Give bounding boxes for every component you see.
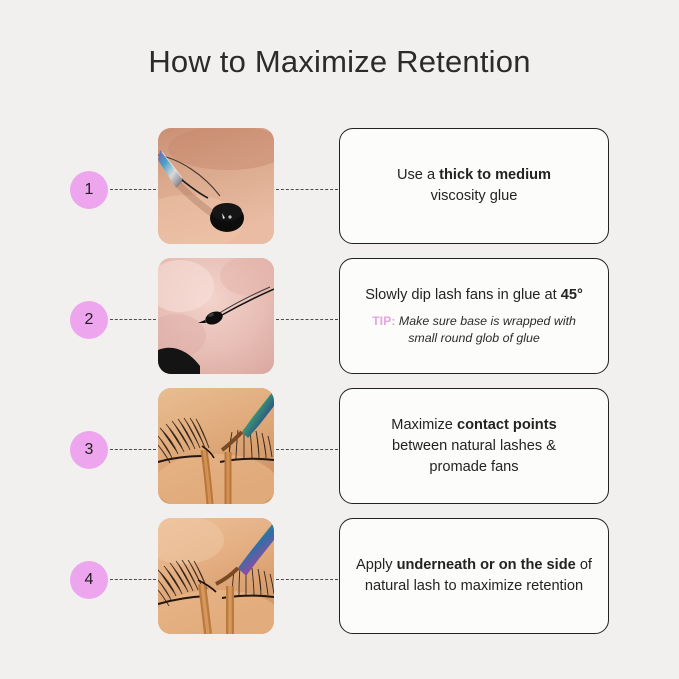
step-text-1-line2: viscosity glue xyxy=(431,188,518,204)
step-image-2 xyxy=(158,258,274,374)
connector-dash-image-to-card-2 xyxy=(276,319,338,320)
tip-label-2: TIP: xyxy=(372,314,395,328)
step-number-badge-1: 1 xyxy=(70,171,108,209)
step-number-badge-2: 2 xyxy=(70,301,108,339)
connector-dash-badge-to-image-3 xyxy=(110,449,156,450)
connector-dash-image-to-card-4 xyxy=(276,579,338,580)
step-text-3-bold: contact points xyxy=(457,417,557,433)
step-text-2-before: Slowly dip lash fans in glue at xyxy=(365,287,561,303)
step-number-badge-4: 4 xyxy=(70,561,108,599)
page-title: How to Maximize Retention xyxy=(0,44,679,80)
step-card-1: Use a thick to medium viscosity glue xyxy=(339,128,609,244)
step-text-3-line2: between natural lashes & xyxy=(392,438,556,454)
connector-dash-image-to-card-3 xyxy=(276,449,338,450)
step-row-1: 1 xyxy=(0,128,679,244)
step-text-1-before: Use a xyxy=(397,167,439,183)
step-tip-2: TIP: Make sure base is wrapped with smal… xyxy=(356,313,592,347)
step-row-2: 2 xyxy=(0,258,679,374)
step-text-3-line3: promade fans xyxy=(429,459,518,475)
step-card-4: Apply underneath or on the side of natur… xyxy=(339,518,609,634)
connector-dash-badge-to-image-1 xyxy=(110,189,156,190)
connector-dash-badge-to-image-2 xyxy=(110,319,156,320)
step-image-3 xyxy=(158,388,274,504)
step-text-3: Maximize contact points between natural … xyxy=(391,415,556,478)
tip-text-2: Make sure base is wrapped with small rou… xyxy=(399,314,576,345)
connector-dash-image-to-card-1 xyxy=(276,189,338,190)
step-text-4-bold: underneath or on the side xyxy=(397,557,576,573)
step-row-3: 3 xyxy=(0,388,679,504)
step-row-4: 4 xyxy=(0,518,679,634)
step-card-2: Slowly dip lash fans in glue at 45° TIP:… xyxy=(339,258,609,374)
step-text-4-before: Apply xyxy=(356,557,397,573)
step-text-2: Slowly dip lash fans in glue at 45° xyxy=(365,285,583,306)
step-image-1 xyxy=(158,128,274,244)
step-card-3: Maximize contact points between natural … xyxy=(339,388,609,504)
step-text-3-before: Maximize xyxy=(391,417,457,433)
step-text-4: Apply underneath or on the side of natur… xyxy=(356,555,592,597)
step-text-1-bold: thick to medium xyxy=(439,167,551,183)
step-text-2-bold: 45° xyxy=(561,287,583,303)
step-image-4 xyxy=(158,518,274,634)
infographic-canvas: How to Maximize Retention 1 xyxy=(0,0,679,679)
connector-dash-badge-to-image-4 xyxy=(110,579,156,580)
step-text-1: Use a thick to medium viscosity glue xyxy=(397,165,551,207)
step-number-badge-3: 3 xyxy=(70,431,108,469)
